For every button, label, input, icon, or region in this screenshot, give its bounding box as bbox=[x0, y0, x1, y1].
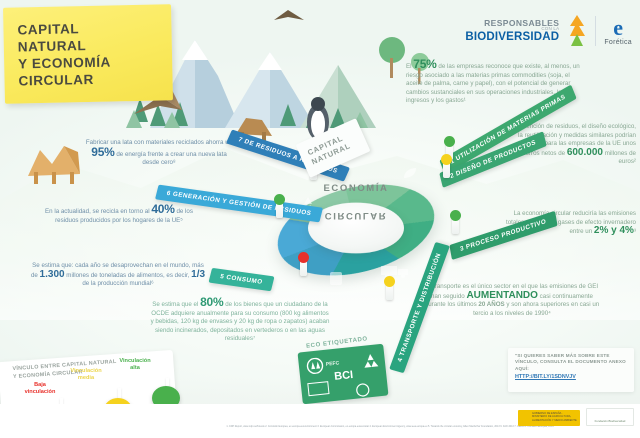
responsables-line2: BIODIVERSIDAD bbox=[465, 32, 559, 44]
bci-label: BCI bbox=[334, 369, 354, 383]
foretica-logo: e Forética bbox=[604, 17, 632, 46]
pefc-label: PEFC bbox=[326, 360, 340, 367]
wheel-center-top: ECONOMÍA bbox=[323, 183, 388, 194]
legend-item-media-label: Vinculación media bbox=[60, 368, 112, 382]
segment-5-label: CONSUMO bbox=[226, 274, 264, 286]
legend-item-baja-label: Baja vinculación bbox=[16, 382, 64, 396]
pefc-icon bbox=[304, 357, 326, 375]
page-title: CAPITAL NATURAL Y ECONOMÍA CIRCULAR bbox=[3, 4, 173, 90]
leaf-badge-icon bbox=[353, 382, 372, 398]
segment-6-number: 6 bbox=[166, 190, 172, 197]
eco-card: PEFC BCI bbox=[298, 344, 389, 405]
fact-household-recycling: En la actualidad, se recicla en torno al… bbox=[34, 205, 204, 225]
leaf-icon bbox=[402, 166, 418, 180]
recycle-bag-icon bbox=[328, 268, 344, 286]
more-info-box: "SI QUIERES SABER MÁS SOBRE ESTE VÍNCULO… bbox=[508, 348, 634, 392]
segment-2-number: 2 bbox=[450, 172, 455, 180]
footer-bar: 1. CDP Report, www.cdp.net/forests 2. Co… bbox=[0, 404, 640, 438]
legend-item-alta-label: Vinculación alta bbox=[110, 358, 160, 372]
responsables-biodiversidad-logo: RESPONSABLES CON LA BIODIVERSIDAD bbox=[465, 19, 559, 44]
fsc-icon bbox=[307, 380, 331, 398]
brand-logos: RESPONSABLES CON LA BIODIVERSIDAD e Foré… bbox=[465, 14, 632, 48]
title-note: CAPITAL NATURAL Y ECONOMÍA CIRCULAR bbox=[3, 4, 173, 103]
foretica-name: Forética bbox=[604, 39, 632, 46]
eagle-icon bbox=[272, 4, 308, 30]
more-info-link[interactable]: HTTP://BIT.LY/1SDNVJV bbox=[508, 372, 634, 380]
fact-food-waste: Se estima que: cada año se desaprovechan… bbox=[28, 262, 208, 289]
segment-4-number: 4 bbox=[396, 357, 404, 363]
gobierno-espana-logo: GOBIERNO DE ESPAÑA · MINISTERIO DE AGRIC… bbox=[518, 410, 580, 426]
logo-divider bbox=[595, 16, 596, 46]
recycle-truck-icon bbox=[380, 262, 414, 278]
recycle-badge-icon bbox=[362, 352, 380, 370]
segment-5-number: 5 bbox=[219, 273, 225, 280]
fact-can-recycling: Fabricar una lata con materiales recicla… bbox=[84, 139, 234, 168]
bird-logo-icon bbox=[567, 14, 587, 48]
fact-transport: El transporte es el único sector en el q… bbox=[424, 283, 600, 318]
segment-6-pin bbox=[276, 200, 283, 218]
fundacion-label: Fundación Biodiversidad bbox=[587, 409, 633, 423]
segment-5-pin bbox=[300, 258, 307, 276]
foretica-mark: e bbox=[613, 17, 623, 39]
segment-3-number: 3 bbox=[460, 245, 465, 253]
gobierno-label: GOBIERNO DE ESPAÑA · MINISTERIO DE AGRIC… bbox=[518, 410, 580, 422]
more-info-text: "SI QUIERES SABER MÁS SOBRE ESTE VÍNCULO… bbox=[508, 348, 634, 372]
segment-3-pin bbox=[452, 216, 459, 234]
fundacion-biodiversidad-logo: Fundación Biodiversidad bbox=[586, 408, 634, 426]
segment-4-pin bbox=[386, 282, 393, 300]
segment-2-pin bbox=[443, 160, 450, 178]
infographic-canvas: CAPITAL NATURAL Y ECONOMÍA CIRCULAR RESP… bbox=[0, 0, 640, 438]
